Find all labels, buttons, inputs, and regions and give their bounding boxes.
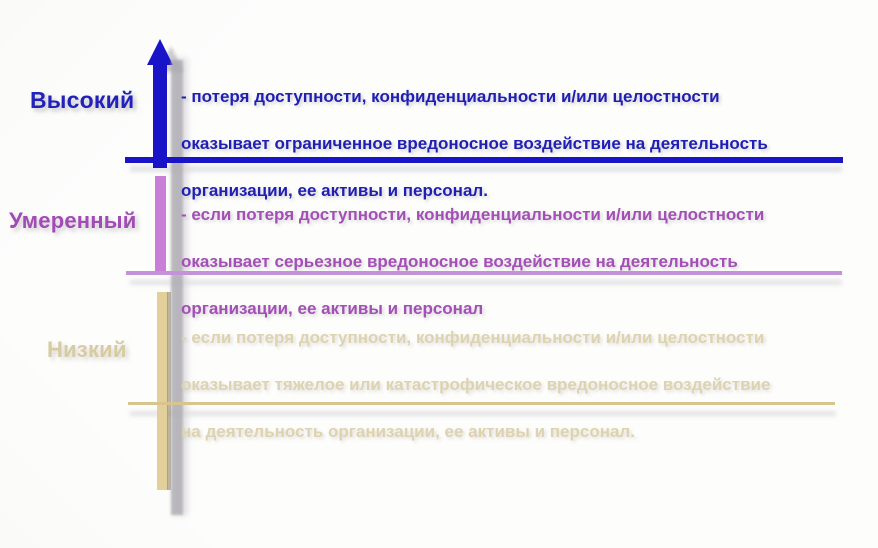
arrow-shaft: [153, 62, 167, 168]
tier-description-low-line3: на деятельность организации, ее активы и…: [181, 420, 878, 443]
tier-description-moderate-line1: - если потеря доступности, конфиденциаль…: [181, 203, 871, 226]
tier-description-moderate-line2: оказывает серьезное вредоносное воздейст…: [181, 250, 871, 273]
tier-label-low: Низкий: [47, 337, 127, 363]
tier-description-low-line2: оказывает тяжелое или катастрофическое в…: [181, 373, 878, 396]
moderate-axis-bar: [155, 176, 166, 274]
risk-impact-diagram: Высокий Умеренный Низкий - потеря доступ…: [0, 0, 878, 548]
tier-description-high-line2: оказывает ограниченное вредоносное возде…: [181, 132, 871, 155]
tier-description-low-line1: - если потеря доступности, конфиденциаль…: [181, 326, 878, 349]
tier-label-high: Высокий: [30, 87, 134, 114]
tier-label-moderate: Умеренный: [9, 208, 136, 234]
tier-description-high-line1: - потеря доступности, конфиденциальности…: [181, 85, 871, 108]
tier-description-low: - если потеря доступности, конфиденциаль…: [181, 303, 878, 467]
